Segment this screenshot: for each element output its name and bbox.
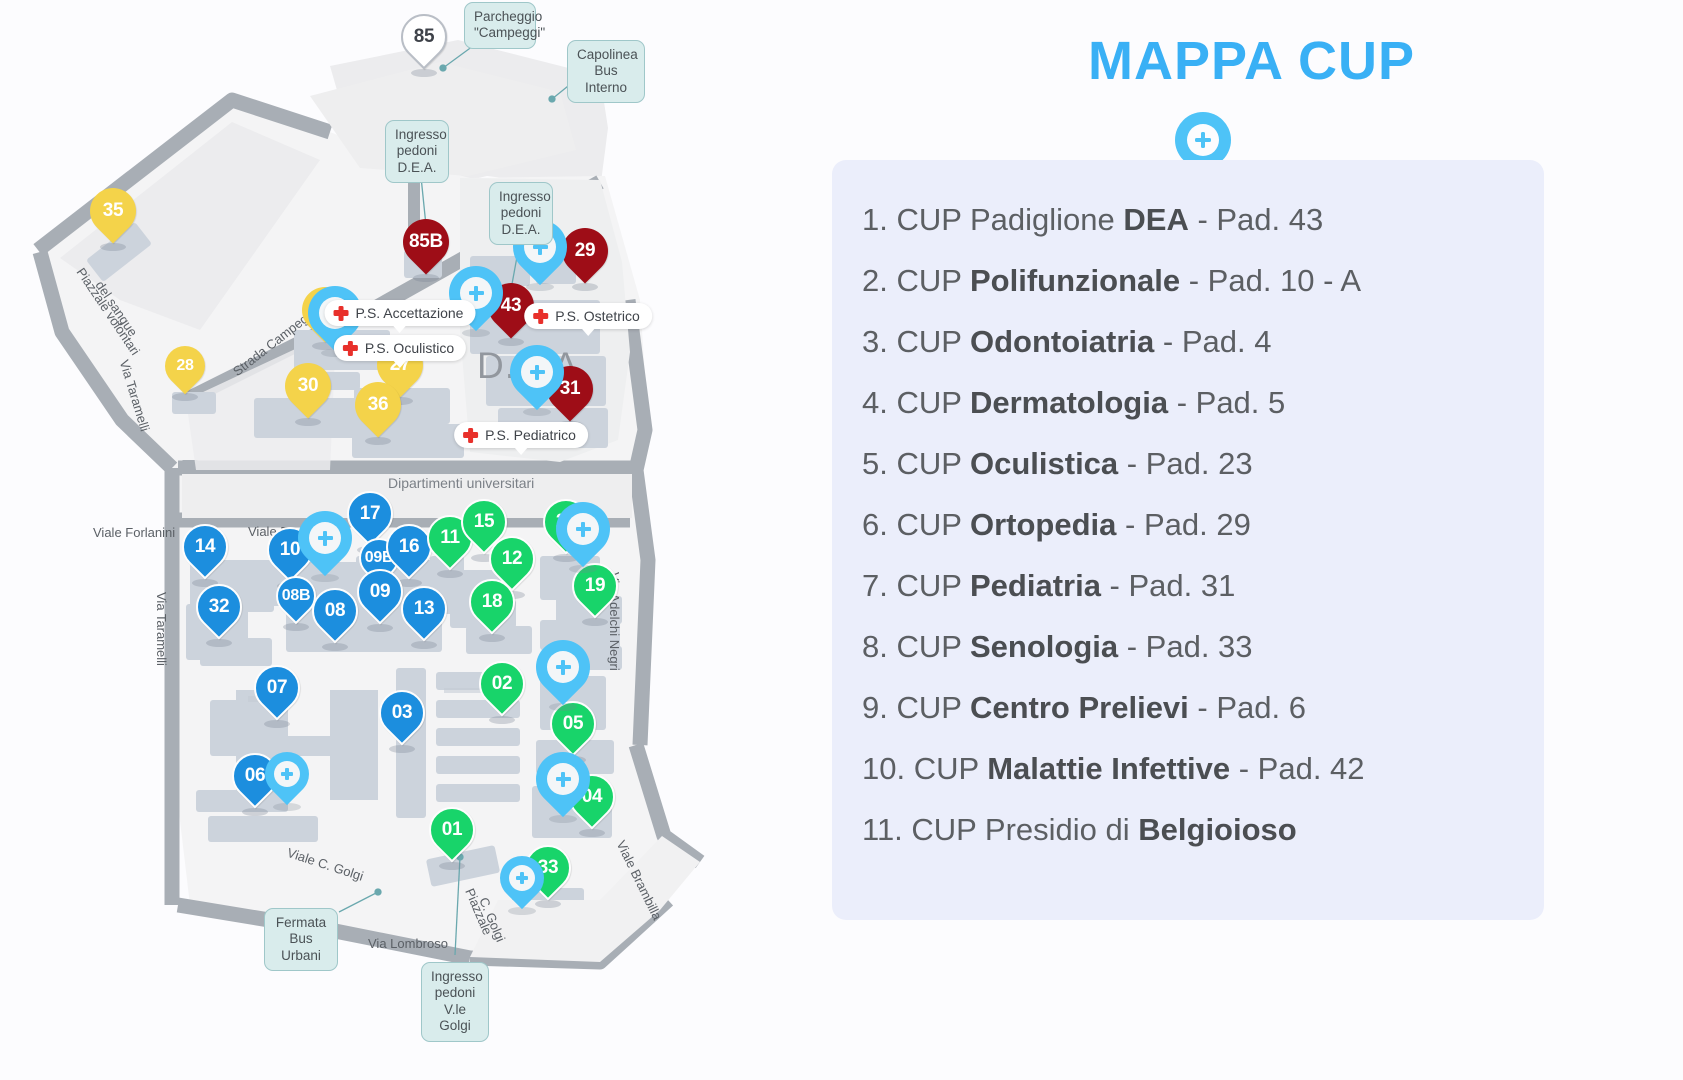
list-item-pavilion: - Pad. 29 — [1116, 507, 1250, 542]
callout-box-5: Fermata Bus Urbani — [264, 908, 338, 971]
list-item-service: Pediatria — [970, 568, 1101, 603]
pin-label: 85 — [401, 14, 447, 60]
map-pin-18[interactable]: 18 — [469, 579, 515, 641]
list-item-number: 6. — [862, 507, 888, 542]
list-item-service: Ortopedia — [970, 507, 1116, 542]
list-item-prefix: CUP — [888, 690, 970, 725]
list-item-number: 2. — [862, 263, 888, 298]
pin-label: 30 — [285, 363, 331, 409]
pin-shadow — [322, 643, 348, 651]
pin-shadow — [437, 570, 463, 578]
pin-label: 18 — [469, 579, 515, 625]
cup-list-item[interactable]: 10. CUP Malattie Infettive - Pad. 42 — [862, 753, 1544, 784]
pin-shadow — [479, 634, 505, 642]
pin-shadow — [413, 274, 439, 282]
callout-box-3: Ingresso pedoni D.E.A. — [385, 120, 449, 183]
cup-list-item[interactable]: 3. CUP Odontoiatria - Pad. 4 — [862, 326, 1544, 357]
pin-label: 13 — [401, 586, 447, 632]
list-item-pavilion: - Pad. 33 — [1118, 629, 1252, 664]
list-item-number: 3. — [862, 324, 888, 359]
pin-shadow — [100, 243, 126, 251]
cup-list-item[interactable]: 8. CUP Senologia - Pad. 33 — [862, 631, 1544, 662]
ps-label-text: P.S. Pediatrico — [485, 427, 576, 443]
list-item-service: Polifunzionale — [970, 263, 1180, 298]
pill-tail — [581, 328, 595, 336]
cup-list: 1. CUP Padiglione DEA - Pad. 432. CUP Po… — [862, 204, 1544, 845]
pin-label: 08 — [312, 588, 358, 634]
list-item-number: 10. — [862, 751, 905, 786]
cup-list-item[interactable]: 5. CUP Oculistica - Pad. 23 — [862, 448, 1544, 479]
pin-shadow — [579, 829, 605, 837]
red-cross-icon — [463, 428, 478, 443]
list-item-pavilion: - Pad. 23 — [1118, 446, 1252, 481]
list-item-prefix: CUP Presidio di — [903, 812, 1138, 847]
red-cross-icon — [334, 306, 349, 321]
map-pin-09[interactable]: 09 — [357, 569, 403, 631]
map-pin-35[interactable]: 35 — [90, 188, 136, 250]
pin-shadow — [367, 624, 393, 632]
callout-box-4: Ingresso pedoni D.E.A. — [489, 182, 553, 245]
pin-shadow — [489, 716, 515, 724]
list-item-number: 8. — [862, 629, 888, 664]
cup-list-item[interactable]: 9. CUP Centro Prelievi - Pad. 6 — [862, 692, 1544, 723]
map-pin-28[interactable]: 28 — [165, 346, 205, 400]
list-item-service: DEA — [1123, 202, 1188, 237]
list-item-pavilion: - Pad. 6 — [1189, 690, 1306, 725]
pin-label: 29 — [562, 228, 608, 274]
pin-label: 12 — [489, 536, 535, 582]
red-cross-icon — [533, 309, 548, 324]
cup-list-item[interactable]: 2. CUP Polifunzionale - Pad. 10 - A — [862, 265, 1544, 296]
map-pin-30[interactable]: 30 — [285, 363, 331, 425]
map-pin-01[interactable]: 01 — [429, 807, 475, 869]
cup-list-item[interactable]: 11. CUP Presidio di Belgioioso — [862, 814, 1544, 845]
pin-label: 35 — [90, 188, 136, 234]
pin-shadow — [411, 69, 437, 77]
list-item-pavilion: - Pad. 4 — [1154, 324, 1271, 359]
page-title: MAPPA CUP — [820, 30, 1683, 92]
map-pin-07[interactable]: 07 — [254, 665, 300, 727]
plus-icon — [547, 651, 579, 683]
cup-list-item[interactable]: 1. CUP Padiglione DEA - Pad. 43 — [862, 204, 1544, 235]
map-pin-13[interactable]: 13 — [401, 586, 447, 648]
map-pin-08[interactable]: 08 — [312, 588, 358, 650]
plus-icon — [509, 865, 535, 891]
list-item-prefix: CUP — [888, 263, 970, 298]
plus-icon — [274, 761, 300, 787]
pin-label: 14 — [182, 524, 228, 570]
cup-plus-marker-9[interactable] — [265, 752, 309, 810]
street-label: Via Lombroso — [368, 936, 448, 951]
map-page: Piazzale volontaridel sangueVia Taramell… — [0, 0, 1683, 1080]
map-pin-36[interactable]: 36 — [355, 382, 401, 444]
list-item-prefix: CUP — [888, 324, 970, 359]
pill-tail — [514, 447, 528, 455]
list-item-number: 11. — [862, 812, 903, 847]
list-item-number: 1. — [862, 202, 888, 237]
list-item-service: Malattie Infettive — [987, 751, 1230, 786]
pin-label: 09 — [357, 569, 403, 615]
ps-label-1[interactable]: P.S. Accettazione — [325, 300, 476, 326]
list-item-service: Senologia — [970, 629, 1118, 664]
list-item-prefix: CUP — [888, 385, 970, 420]
cup-plus-marker-5[interactable] — [298, 511, 352, 581]
list-item-pavilion: - Pad. 43 — [1189, 202, 1323, 237]
pin-label: 32 — [196, 584, 242, 630]
list-item-service: Dermatologia — [970, 385, 1168, 420]
list-item-number: 5. — [862, 446, 888, 481]
list-item-number: 7. — [862, 568, 888, 603]
cup-list-item[interactable]: 7. CUP Pediatria - Pad. 31 — [862, 570, 1544, 601]
list-item-pavilion: - Pad. 5 — [1168, 385, 1285, 420]
map-pin-03[interactable]: 03 — [379, 690, 425, 752]
callout-box-1: Parcheggio "Campeggi" — [464, 2, 536, 49]
pin-shadow — [582, 618, 608, 626]
list-item-pavilion: - Pad. 10 - A — [1180, 263, 1361, 298]
pill-tail — [393, 360, 407, 368]
red-cross-icon — [343, 341, 358, 356]
cup-plus-marker-6[interactable] — [556, 502, 610, 572]
ps-label-text: P.S. Accettazione — [356, 305, 464, 321]
list-item-prefix: CUP Padiglione — [888, 202, 1124, 237]
pin-shadow — [295, 418, 321, 426]
list-item-prefix: CUP — [888, 568, 970, 603]
plus-icon — [547, 763, 579, 795]
pin-label: 28 — [165, 346, 205, 386]
cup-list-card: 1. CUP Padiglione DEA - Pad. 432. CUP Po… — [832, 160, 1544, 920]
cup-plus-marker-7[interactable] — [536, 640, 590, 710]
cup-plus-marker-4[interactable] — [510, 345, 564, 415]
pin-label: 02 — [479, 661, 525, 707]
pin-label: 85B — [403, 219, 449, 265]
pin-shadow — [411, 641, 437, 649]
pin-label: 07 — [254, 665, 300, 711]
cup-list-item[interactable]: 4. CUP Dermatologia - Pad. 5 — [862, 387, 1544, 418]
pin-label: 08B — [276, 576, 316, 616]
cup-list-item[interactable]: 6. CUP Ortopedia - Pad. 29 — [862, 509, 1544, 540]
list-item-prefix: CUP — [888, 629, 970, 664]
cup-plus-marker-10[interactable] — [500, 856, 544, 914]
list-item-pavilion: - Pad. 42 — [1230, 751, 1364, 786]
plus-icon — [567, 513, 599, 545]
pin-shadow — [572, 283, 598, 291]
pin-shadow — [264, 720, 290, 728]
ps-label-4[interactable]: P.S. Pediatrico — [454, 422, 588, 448]
list-item-prefix: CUP — [905, 751, 987, 786]
map-pin-32[interactable]: 32 — [196, 584, 242, 646]
pin-shadow — [389, 745, 415, 753]
list-item-number: 9. — [862, 690, 888, 725]
legend-panel: MAPPA CUP 1. CUP Padiglione DEA - Pad. 4… — [820, 0, 1683, 1080]
cup-plus-marker-8[interactable] — [536, 752, 590, 822]
map-pin-29[interactable]: 29 — [562, 228, 608, 290]
list-item-service: Centro Prelievi — [970, 690, 1189, 725]
map-pin-02[interactable]: 02 — [479, 661, 525, 723]
map-pin-85b[interactable]: 85B — [403, 219, 449, 281]
list-item-pavilion: - Pad. 31 — [1101, 568, 1235, 603]
callout-box-2: Capolinea Bus Interno — [567, 40, 645, 103]
map-pin-14[interactable]: 14 — [182, 524, 228, 586]
ps-label-3[interactable]: P.S. Ostetrico — [524, 303, 652, 329]
street-label: Viale Forlanini — [93, 525, 175, 540]
pin-label: 36 — [355, 382, 401, 428]
pin-label: 01 — [429, 807, 475, 853]
ps-label-text: P.S. Oculistico — [365, 340, 454, 356]
list-item-service: Belgioioso — [1138, 812, 1296, 847]
plus-icon — [309, 522, 341, 554]
ps-label-2[interactable]: P.S. Oculistico — [334, 335, 466, 361]
pin-shadow — [206, 639, 232, 647]
map-pin-08b[interactable]: 08B — [276, 576, 316, 630]
pin-label: 03 — [379, 690, 425, 736]
plus-icon — [521, 356, 553, 388]
list-item-service: Odontoiatria — [970, 324, 1154, 359]
map-pin-85[interactable]: 85 — [401, 14, 447, 76]
campus-map[interactable]: Piazzale volontaridel sangueVia Taramell… — [0, 0, 820, 1080]
street-label: Via Taramelli — [154, 592, 169, 666]
list-item-prefix: CUP — [888, 446, 970, 481]
pin-shadow — [439, 862, 465, 870]
list-item-service: Oculistica — [970, 446, 1118, 481]
pin-label: 16 — [386, 524, 432, 570]
callout-box-6: Ingresso pedoni V.le Golgi — [421, 962, 489, 1042]
ps-label-text: P.S. Ostetrico — [555, 308, 640, 324]
pill-tail — [393, 325, 407, 333]
pin-shadow — [365, 437, 391, 445]
list-item-prefix: CUP — [888, 507, 970, 542]
list-item-number: 4. — [862, 385, 888, 420]
area-label: Dipartimenti universitari — [388, 475, 534, 491]
